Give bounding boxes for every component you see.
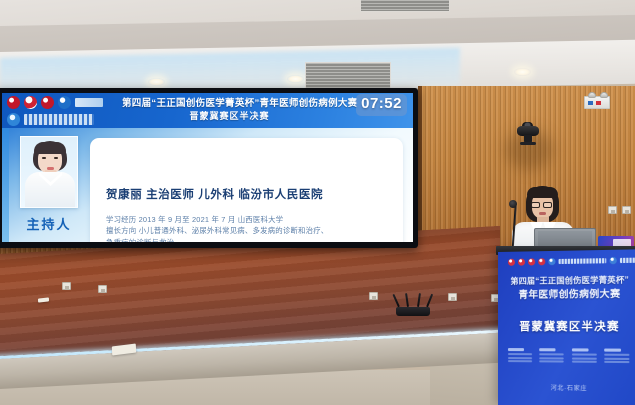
ceiling-downlight <box>514 68 531 76</box>
portrait-eye <box>42 157 46 159</box>
portrait-eye <box>54 157 58 159</box>
emergency-light <box>584 96 610 109</box>
slide-subtitle: 晋蒙冀赛区半决赛 <box>122 109 337 122</box>
blue-snowflake-logo-icon <box>58 96 71 109</box>
emergency-light-label <box>588 101 593 105</box>
podium-foundation-wordmark-icon <box>559 258 607 264</box>
emblem-logo-2-icon <box>24 96 37 109</box>
podium-subtitle: 晋蒙冀赛区半决赛 <box>504 318 635 335</box>
emblem-logo-1-icon <box>7 96 20 109</box>
photo-scene: 第四届“王正国创伤医学菁英杯”青年医师创伤病例大赛 晋蒙冀赛区半决赛 07:52 <box>0 0 635 405</box>
camera-bracket <box>520 142 536 145</box>
podium-detail-column <box>572 348 599 371</box>
presenter-role-label: 主持人 <box>14 214 84 233</box>
projection-screen-frame: 第四届“王正国创伤医学菁英杯”青年医师创伤病例大赛 晋蒙冀赛区半决赛 07:52 <box>0 88 418 248</box>
podium-logo-row <box>508 256 635 265</box>
ceiling-air-vent <box>360 0 450 12</box>
podium-title-line2: 青年医师创伤病例大赛 <box>504 286 635 301</box>
router-antenna <box>417 293 421 307</box>
emergency-lamp-head <box>588 92 596 98</box>
presenter-name-line: 贺康丽 主治医师 儿外科 临汾市人民医院 <box>106 186 323 202</box>
microphone-icon <box>509 200 517 208</box>
emergency-light-indicator <box>596 101 601 105</box>
sponsor-wordmark-icon <box>75 98 103 107</box>
slide-logo-row-primary <box>7 96 103 109</box>
podium-city-label: 河北·石家庄 <box>504 382 635 393</box>
podium-emblem-2-icon <box>518 259 525 266</box>
presenter-bio-line: 擅长方向 小儿普通外科、泌尿外科常见病、多发病的诊断和治疗、 <box>106 225 393 236</box>
speaker-mouth <box>539 212 546 215</box>
presenter-info-card: 贺康丽 主治医师 儿外科 临汾市人民医院 学习经历 2013 年 9 月至 20… <box>90 138 403 242</box>
router-antenna <box>405 293 409 307</box>
podium-emblem-6-icon <box>609 257 616 264</box>
podium-detail-column <box>540 348 567 371</box>
podium-emblem-5-icon <box>548 258 555 265</box>
podium-detail-column <box>604 349 631 372</box>
foundation-logo-icon <box>7 113 20 126</box>
presenter-bio-line: 急重症的诊断与救治。 <box>106 237 393 242</box>
emblem-logo-3-icon <box>41 96 54 109</box>
wall-outlet[interactable] <box>369 292 378 300</box>
podium-detail-column <box>508 348 534 370</box>
router-body <box>396 307 430 316</box>
presenter-portrait <box>20 136 78 208</box>
podium-sponsor-wordmark-icon <box>620 258 635 264</box>
portrait-fringe <box>34 142 66 154</box>
wifi-router <box>396 296 430 316</box>
presenter-bio-line: 学习经历 2013 年 9 月至 2021 年 7 月 山西医科大学 <box>106 214 393 225</box>
podium-banner: 第四届“王正国创伤医学菁英杯” 青年医师创伤病例大赛 晋蒙冀赛区半决赛 河北·石… <box>498 249 635 405</box>
speaker-glasses <box>531 202 540 208</box>
wall-outlet[interactable] <box>62 282 71 290</box>
podium-emblem-4-icon <box>538 258 545 265</box>
wall-camera <box>515 122 541 140</box>
wall-outlet[interactable] <box>608 206 617 214</box>
slide-body: 主持人 贺康丽 主治医师 儿外科 临汾市人民医院 学习经历 2013 年 9 月… <box>2 128 413 242</box>
laptop-screen <box>538 231 592 247</box>
emergency-lamp-head <box>600 92 608 98</box>
ceiling-downlight <box>148 78 165 86</box>
podium-emblem-3-icon <box>528 258 535 265</box>
slide-header: 第四届“王正国创伤医学菁英杯”青年医师创伤病例大赛 晋蒙冀赛区半决赛 07:52 <box>2 93 413 128</box>
slide-title: 第四届“王正国创伤医学菁英杯”青年医师创伤病例大赛 <box>122 95 337 109</box>
portrait-coat <box>25 172 75 208</box>
slide-logo-row-secondary <box>7 113 94 126</box>
podium-emblem-1-icon <box>508 259 515 266</box>
wall-outlet[interactable] <box>622 206 631 214</box>
ceiling-air-vent <box>305 62 391 90</box>
podium-detail-columns <box>508 348 632 371</box>
slide-accent-bar <box>2 128 9 242</box>
ceiling-downlight <box>287 75 304 83</box>
foundation-wordmark-icon <box>24 114 94 125</box>
speaker-fringe <box>527 187 558 198</box>
countdown-timer: 07:52 <box>356 94 407 116</box>
wall-outlet[interactable] <box>448 293 457 301</box>
presenter-bio: 学习经历 2013 年 9 月至 2021 年 7 月 山西医科大学 擅长方向 … <box>106 214 393 242</box>
wall-outlet[interactable] <box>98 285 107 293</box>
speaker-glasses <box>543 202 552 208</box>
projection-screen: 第四届“王正国创伤医学菁英杯”青年医师创伤病例大赛 晋蒙冀赛区半决赛 07:52 <box>2 93 413 242</box>
